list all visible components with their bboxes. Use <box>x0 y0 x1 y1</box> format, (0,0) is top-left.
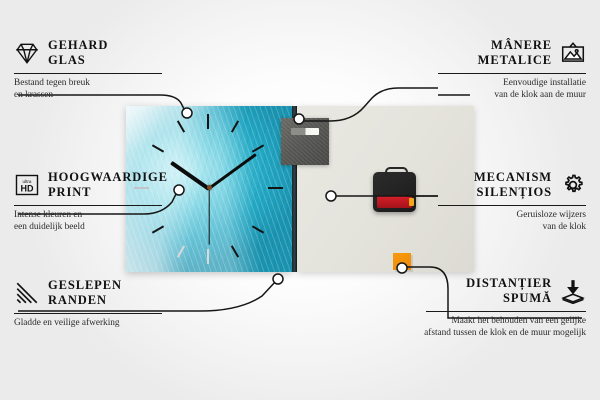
callout-title-line1: DISTANȚIER <box>466 276 552 291</box>
callout-desc-line1: Bestand tegen breuk <box>14 77 214 89</box>
callout-rule <box>14 205 162 207</box>
callout-title-line1: MECANISM <box>474 170 552 185</box>
callout-desc-line1: Intense kleuren en <box>14 209 214 221</box>
callout-distantier-spuma[interactable]: DISTANȚIER SPUMĂ Maakt het behouden van … <box>374 276 586 340</box>
callout-gehard-glas[interactable]: GEHARD GLAS Bestand tegen breuk en krass… <box>14 38 214 102</box>
callout-desc-line2: een duidelijk beeld <box>14 221 214 233</box>
callout-hoogwaardige-print[interactable]: ultra HD HOOGWAARDIGE PRINT Intense kleu… <box>14 170 214 234</box>
callout-manere-metalice[interactable]: MÂNERE METALICE Eenvoudige installatie v… <box>386 38 586 102</box>
callout-title-line1: MÂNERE <box>478 38 552 53</box>
callout-title-line2: PRINT <box>48 185 168 200</box>
callout-title-line2: RANDEN <box>48 293 122 308</box>
callout-title-line2: GLAS <box>48 53 108 68</box>
spacer-arrow-icon <box>560 278 586 304</box>
callout-rule <box>426 311 586 313</box>
metal-hanger-plate <box>281 118 329 165</box>
callout-desc-line2: afstand tussen de klok en de muur mogeli… <box>374 327 586 339</box>
infographic-canvas: GEHARD GLAS Bestand tegen breuk en krass… <box>0 0 600 400</box>
callout-title-line1: HOOGWAARDIGE <box>48 170 168 185</box>
callout-title-line2: SILENȚIOS <box>474 185 552 200</box>
bevelled-edge-icon <box>14 280 40 306</box>
picture-frame-icon <box>560 40 586 66</box>
svg-text:HD: HD <box>21 184 34 194</box>
hanger-slot <box>291 128 319 135</box>
callout-rule <box>438 205 586 207</box>
callout-rule <box>438 73 586 75</box>
diamond-icon <box>14 40 40 66</box>
callout-rule <box>14 73 162 75</box>
callout-desc-line2: van de klok aan de muur <box>386 89 586 101</box>
callout-title-line2: METALICE <box>478 53 552 68</box>
callout-title-line1: GESLEPEN <box>48 278 122 293</box>
callout-desc-line1: Eenvoudige installatie <box>386 77 586 89</box>
gear-icon <box>560 172 586 198</box>
ultra-hd-icon: ultra HD <box>14 172 40 198</box>
callout-desc-line2: van de klok <box>386 221 586 233</box>
callout-desc-line1: Geruisloze wijzers <box>386 209 586 221</box>
callout-desc-line1: Maakt het behouden van een gelijke <box>374 315 586 327</box>
callout-title-line2: SPUMĂ <box>466 291 552 306</box>
callout-rule <box>14 313 162 315</box>
callout-desc-line2: en krassen <box>14 89 214 101</box>
foam-spacer-pad <box>393 253 411 270</box>
callout-desc-line1: Gladde en veilige afwerking <box>14 317 214 329</box>
callout-geslepen-randen[interactable]: GESLEPEN RANDEN Gladde en veilige afwerk… <box>14 278 214 329</box>
callout-title-line1: GEHARD <box>48 38 108 53</box>
callout-mecanism-silentios[interactable]: MECANISM SILENȚIOS Geruisloze wijzers va… <box>386 170 586 234</box>
